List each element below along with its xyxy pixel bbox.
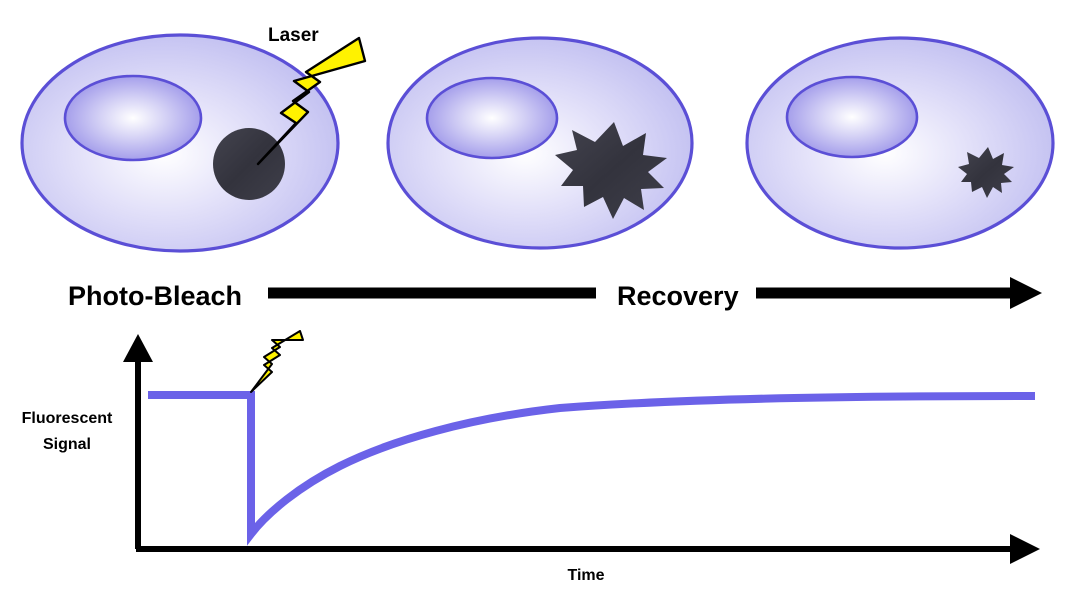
cell-prebleach: Laser xyxy=(22,25,365,251)
cell-recovered xyxy=(747,38,1053,248)
chart-lightning-bolt-icon xyxy=(251,331,303,392)
x-axis-label: Time xyxy=(567,567,604,584)
frap-recovery-chart: Fluorescent Signal Time xyxy=(22,331,1040,584)
laser-label: Laser xyxy=(268,25,319,46)
cell-nucleus xyxy=(65,76,201,160)
y-axis-label-line1: Fluorescent xyxy=(22,410,113,427)
arrow-up-icon xyxy=(123,334,153,362)
arrow-right-icon xyxy=(1010,277,1042,309)
figure-canvas: Laser Photo-Bleach Recovery xyxy=(0,0,1080,600)
stage-progression-row: Photo-Bleach Recovery xyxy=(68,277,1042,311)
stage-label-recovery: Recovery xyxy=(617,281,739,311)
bleach-spot-circle xyxy=(213,128,285,200)
cell-nucleus xyxy=(427,78,557,158)
cell-nucleus xyxy=(787,77,917,157)
arrow-right-icon xyxy=(1010,534,1040,564)
cell-bleached xyxy=(388,38,692,248)
stage-label-photobleach: Photo-Bleach xyxy=(68,281,242,311)
signal-curve xyxy=(148,395,1035,534)
y-axis-label-line2: Signal xyxy=(43,436,91,453)
frap-diagram: Laser Photo-Bleach Recovery xyxy=(0,0,1080,600)
